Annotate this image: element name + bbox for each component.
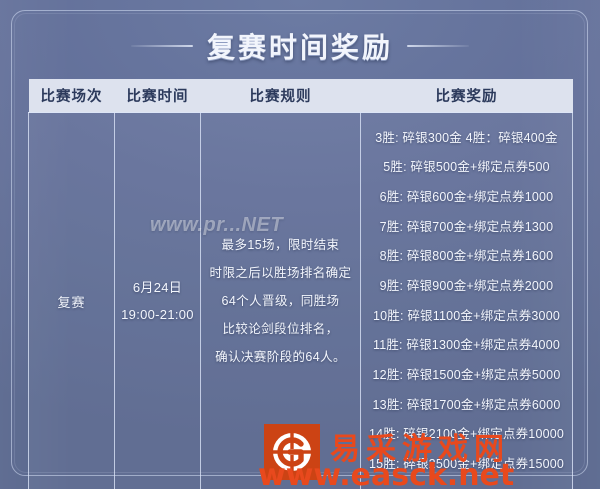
table-row: 复赛 6月24日 19:00-21:00 最多15场，限时结束 时限之后以胜场排… (29, 113, 573, 489)
rules-line: 时限之后以胜场排名确定 (209, 259, 352, 287)
column-header-rules: 比赛规则 (201, 79, 361, 113)
column-header-round: 比赛场次 (29, 79, 115, 113)
reward-panel: 复赛时间奖励 比赛场次 比赛时间 比赛规则 比赛奖励 复赛 6月24日 19:0… (0, 0, 600, 489)
cell-time: 6月24日 19:00-21:00 (115, 113, 201, 489)
table-header: 比赛场次 比赛时间 比赛规则 比赛奖励 (29, 79, 573, 113)
reward-line: 14胜: 碎银2100金+绑定点券10000 (367, 420, 566, 450)
title-row: 复赛时间奖励 (0, 24, 600, 68)
table-body: 复赛 6月24日 19:00-21:00 最多15场，限时结束 时限之后以胜场排… (29, 113, 573, 489)
reward-line: 3胜: 碎银300金 4胜：碎银400金 (367, 123, 566, 153)
reward-line: 10胜: 碎银1100金+绑定点券3000 (367, 301, 566, 331)
reward-table: 比赛场次 比赛时间 比赛规则 比赛奖励 复赛 6月24日 19:00-21:00… (28, 79, 573, 489)
match-time-range: 19:00-21:00 (119, 301, 196, 328)
reward-line: 5胜: 碎银500金+绑定点券500 (367, 153, 566, 183)
column-header-reward: 比赛奖励 (361, 79, 573, 113)
reward-line: 15胜: 碎银2500金+绑定点券15000 (367, 450, 566, 480)
rules-line: 最多15场，限时结束 (209, 231, 352, 259)
rules-line: 64个人晋级，同胜场 (209, 287, 352, 315)
reward-line: 11胜: 碎银1300金+绑定点券4000 (367, 331, 566, 361)
reward-line: 6胜: 碎银600金+绑定点券1000 (367, 182, 566, 212)
cell-rules: 最多15场，限时结束 时限之后以胜场排名确定 64个人晋级，同胜场 比较论剑段位… (201, 113, 361, 489)
column-header-time: 比赛时间 (115, 79, 201, 113)
page-title: 复赛时间奖励 (207, 26, 393, 66)
reward-line: 8胜: 碎银800金+绑定点券1600 (367, 242, 566, 272)
reward-line: 13胜: 碎银1700金+绑定点券6000 (367, 390, 566, 420)
reward-line: 9胜: 碎银900金+绑定点券2000 (367, 271, 566, 301)
reward-line: 12胜: 碎银1500金+绑定点券5000 (367, 361, 566, 391)
rules-line: 确认决赛阶段的64人。 (209, 343, 352, 371)
title-rule-right-icon (407, 45, 469, 47)
match-date: 6月24日 (119, 274, 196, 301)
rules-line: 比较论剑段位排名， (209, 315, 352, 343)
table-header-row: 比赛场次 比赛时间 比赛规则 比赛奖励 (29, 79, 573, 113)
title-rule-left-icon (131, 45, 193, 47)
cell-round: 复赛 (29, 113, 115, 489)
reward-line: 7胜: 碎银700金+绑定点券1300 (367, 212, 566, 242)
cell-reward: 3胜: 碎银300金 4胜：碎银400金 5胜: 碎银500金+绑定点券500 … (361, 113, 573, 489)
